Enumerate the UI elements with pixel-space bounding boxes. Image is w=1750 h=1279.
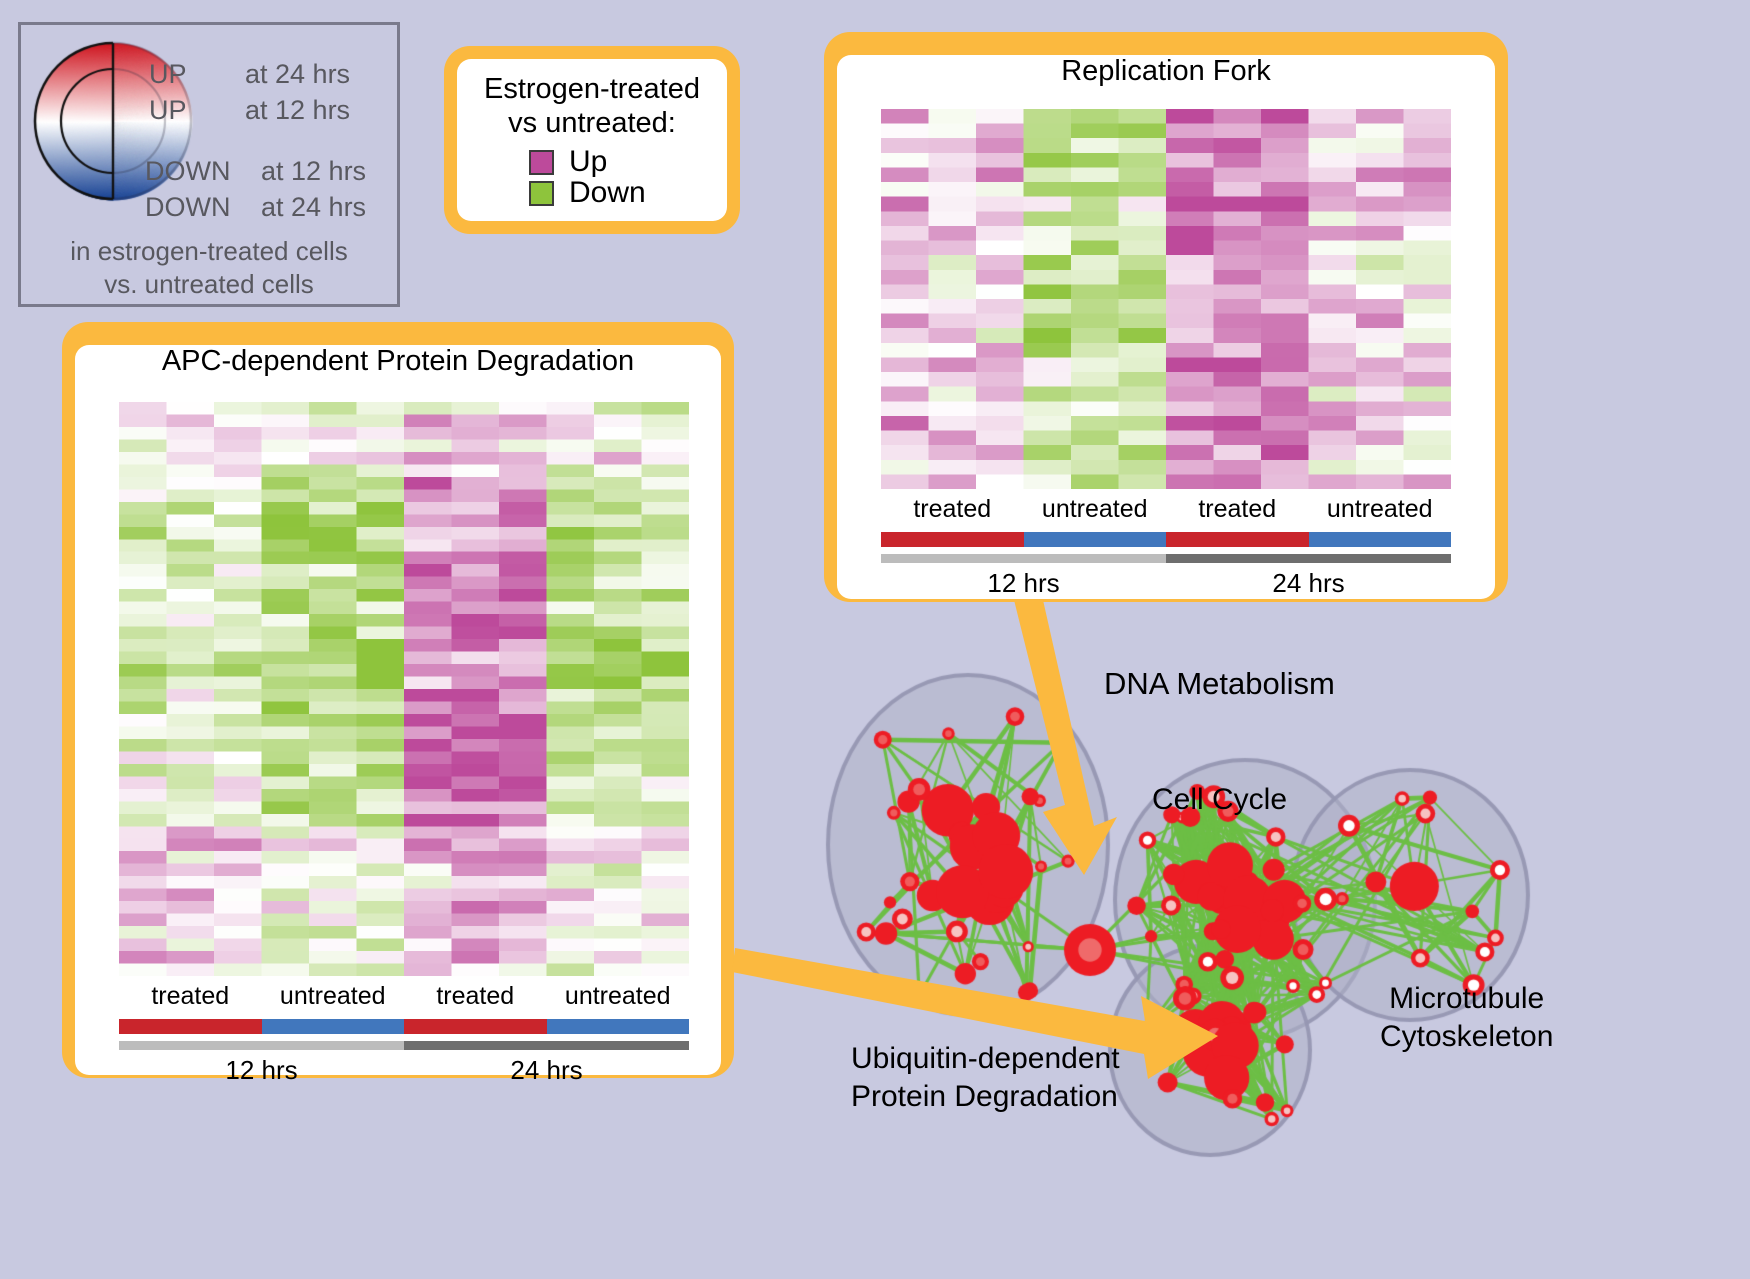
legend-item-up: Up xyxy=(529,147,727,177)
time-label: 12 hrs xyxy=(881,568,1166,599)
apc-degradation-title: APC-dependent Protein Degradation xyxy=(75,345,721,378)
cluster-label-ubiquitin-degradation: Ubiquitin-dependent Protein Degradation xyxy=(851,1040,1120,1115)
color-key-down-24-label: DOWN xyxy=(145,192,230,223)
replication-fork-time-labels: 12 hrs24 hrs xyxy=(881,568,1451,599)
group-label: untreated xyxy=(262,982,405,1011)
group-label: treated xyxy=(404,982,547,1011)
color-key-down-12-label: DOWN xyxy=(145,156,230,187)
group-label: treated xyxy=(119,982,262,1011)
legend-label-up: Up xyxy=(569,147,607,177)
legend-title-line1: Estrogen-treated xyxy=(457,73,727,107)
color-key-box: UP at 24 hrs UP at 12 hrs DOWN at 12 hrs… xyxy=(18,22,400,307)
legend-item-down: Down xyxy=(529,178,727,208)
group-label: untreated xyxy=(547,982,690,1011)
time-color-bar xyxy=(404,1041,689,1050)
group-color-bar xyxy=(262,1019,405,1034)
group-color-bar xyxy=(881,532,1024,547)
color-key-down-24-time: at 24 hrs xyxy=(261,192,366,223)
replication-fork-time-bar xyxy=(881,554,1451,563)
time-color-bar xyxy=(881,554,1166,563)
group-color-bar xyxy=(1166,532,1309,547)
color-key-up-24-label: UP xyxy=(149,59,187,90)
replication-fork-group-labels: treateduntreatedtreateduntreated xyxy=(881,495,1451,524)
time-label: 24 hrs xyxy=(404,1055,689,1086)
pathway-network-graph xyxy=(790,620,1750,1279)
apc-treatment-bar xyxy=(119,1019,689,1034)
group-color-bar xyxy=(1309,532,1452,547)
apc-group-labels: treateduntreatedtreateduntreated xyxy=(119,982,689,1011)
time-color-bar xyxy=(119,1041,404,1050)
time-label: 12 hrs xyxy=(119,1055,404,1086)
color-key-up-12-time: at 12 hrs xyxy=(245,95,350,126)
group-color-bar xyxy=(547,1019,690,1034)
color-key-down-12-time: at 12 hrs xyxy=(261,156,366,187)
apc-time-bar xyxy=(119,1041,689,1050)
legend-label-down: Down xyxy=(569,178,646,208)
replication-fork-treatment-bar xyxy=(881,532,1451,547)
group-color-bar xyxy=(1024,532,1167,547)
apc-degradation-panel: APC-dependent Protein Degradation treate… xyxy=(62,322,734,1078)
color-key-caption-line2: vs. untreated cells xyxy=(21,268,397,301)
apc-time-labels: 12 hrs24 hrs xyxy=(119,1055,689,1086)
cluster-label-dna-metabolism: DNA Metabolism xyxy=(1104,666,1335,702)
time-label: 24 hrs xyxy=(1166,568,1451,599)
replication-fork-heatmap xyxy=(881,109,1451,489)
group-color-bar xyxy=(404,1019,547,1034)
group-label: treated xyxy=(1166,495,1309,524)
replication-fork-title: Replication Fork xyxy=(837,55,1495,88)
cluster-label-microtubule-cytoskeleton: Microtubule Cytoskeleton xyxy=(1380,980,1553,1055)
legend-title-line2: vs untreated: xyxy=(457,107,727,141)
legend-swatch-down xyxy=(529,181,554,206)
legend-panel: Estrogen-treated vs untreated: Up Down xyxy=(444,46,740,234)
color-key-caption-line1: in estrogen-treated cells xyxy=(21,235,397,268)
group-label: treated xyxy=(881,495,1024,524)
color-key-up-12-label: UP xyxy=(149,95,187,126)
time-color-bar xyxy=(1166,554,1451,563)
cluster-label-cell-cycle: Cell Cycle xyxy=(1152,783,1287,817)
apc-degradation-heatmap xyxy=(119,402,689,976)
group-label: untreated xyxy=(1309,495,1452,524)
group-color-bar xyxy=(119,1019,262,1034)
legend-swatch-up xyxy=(529,150,554,175)
replication-fork-panel: Replication Fork treateduntreatedtreated… xyxy=(824,32,1508,602)
group-label: untreated xyxy=(1024,495,1167,524)
color-key-up-24-time: at 24 hrs xyxy=(245,59,350,90)
